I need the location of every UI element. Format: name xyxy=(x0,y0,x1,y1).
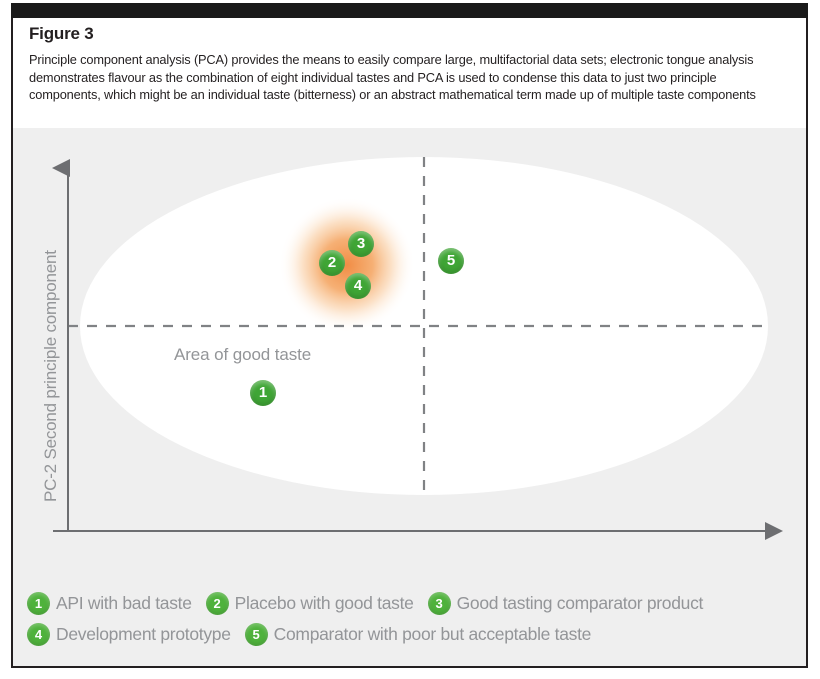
data-point-3[interactable]: 3 xyxy=(348,231,374,257)
legend-panel: 1 API with bad taste 2 Placebo with good… xyxy=(13,571,806,666)
plot-svg xyxy=(13,128,806,571)
data-point-2[interactable]: 2 xyxy=(319,250,345,276)
plot-panel: PC-2 Second principle component PC-1 Fir… xyxy=(13,128,806,571)
legend-item-2[interactable]: 2 Placebo with good taste xyxy=(206,592,414,615)
data-point-4-label: 4 xyxy=(354,277,362,294)
data-point-2-label: 2 xyxy=(328,254,336,271)
data-point-1-label: 1 xyxy=(259,384,267,401)
figure-caption-text: Principle component analysis (PCA) provi… xyxy=(29,51,790,104)
figure-title: Figure 3 xyxy=(29,24,790,44)
area-of-good-taste-label: Area of good taste xyxy=(174,345,311,365)
data-point-5[interactable]: 5 xyxy=(438,248,464,274)
legend-row: 4 Development prototype 5 Comparator wit… xyxy=(27,623,605,646)
legend-label-5: Comparator with poor but acceptable tast… xyxy=(274,624,591,645)
y-axis-title: PC-2 Second principle component xyxy=(41,250,61,502)
legend-label-1: API with bad taste xyxy=(56,593,192,614)
data-point-4[interactable]: 4 xyxy=(345,273,371,299)
legend-marker-1-icon: 1 xyxy=(27,592,50,615)
legend-marker-3-icon: 3 xyxy=(428,592,451,615)
good-taste-halo xyxy=(279,197,415,333)
data-point-1[interactable]: 1 xyxy=(250,380,276,406)
legend-item-3[interactable]: 3 Good tasting comparator product xyxy=(428,592,704,615)
figure-container: Figure 3 Principle component analysis (P… xyxy=(0,0,820,679)
legend-marker-2-icon: 2 xyxy=(206,592,229,615)
figure-header-bar xyxy=(11,3,808,18)
legend-row: 1 API with bad taste 2 Placebo with good… xyxy=(27,592,717,615)
legend-marker-4-icon: 4 xyxy=(27,623,50,646)
data-point-3-label: 3 xyxy=(357,235,365,252)
legend-label-2: Placebo with good taste xyxy=(235,593,414,614)
legend-item-4[interactable]: 4 Development prototype xyxy=(27,623,231,646)
data-point-5-label: 5 xyxy=(447,252,455,269)
figure-caption-block: Figure 3 Principle component analysis (P… xyxy=(13,18,806,128)
legend-marker-5-icon: 5 xyxy=(245,623,268,646)
legend-label-4: Development prototype xyxy=(56,624,231,645)
legend-item-1[interactable]: 1 API with bad taste xyxy=(27,592,192,615)
legend-item-5[interactable]: 5 Comparator with poor but acceptable ta… xyxy=(245,623,591,646)
legend-label-3: Good tasting comparator product xyxy=(457,593,704,614)
